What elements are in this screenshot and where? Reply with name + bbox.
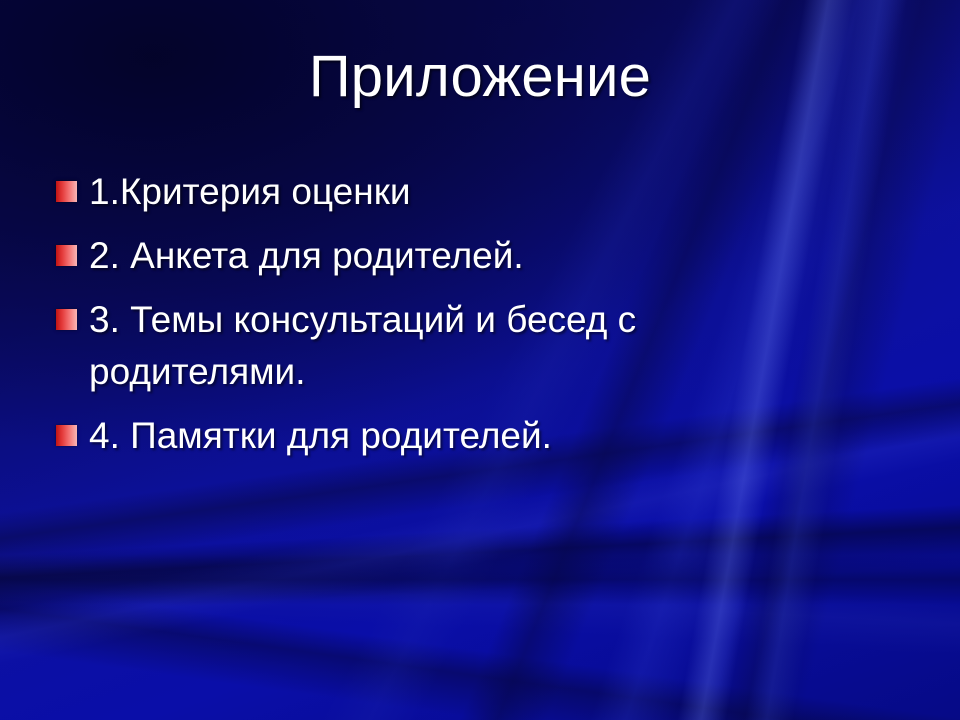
list-item: 3. Темы консультаций и бесед с родителям… (56, 294, 766, 398)
bullet-square-icon (56, 309, 77, 330)
list-item-label: 4. Памятки для родителей. (89, 410, 766, 462)
list-item: 2. Анкета для родителей. (56, 230, 766, 282)
bullet-square-icon (56, 245, 77, 266)
list-item: 4. Памятки для родителей. (56, 410, 766, 462)
bullet-list: 1.Критерия оценки 2. Анкета для родителе… (56, 166, 766, 474)
list-item: 1.Критерия оценки (56, 166, 766, 218)
list-item-label: 2. Анкета для родителей. (89, 230, 766, 282)
list-item-label: 1.Критерия оценки (89, 166, 766, 218)
list-item-label: 3. Темы консультаций и бесед с родителям… (89, 294, 766, 398)
bullet-square-icon (56, 181, 77, 202)
presentation-slide: Приложение 1.Критерия оценки 2. Анкета д… (0, 0, 960, 720)
bullet-square-icon (56, 425, 77, 446)
slide-title: Приложение (0, 44, 960, 110)
